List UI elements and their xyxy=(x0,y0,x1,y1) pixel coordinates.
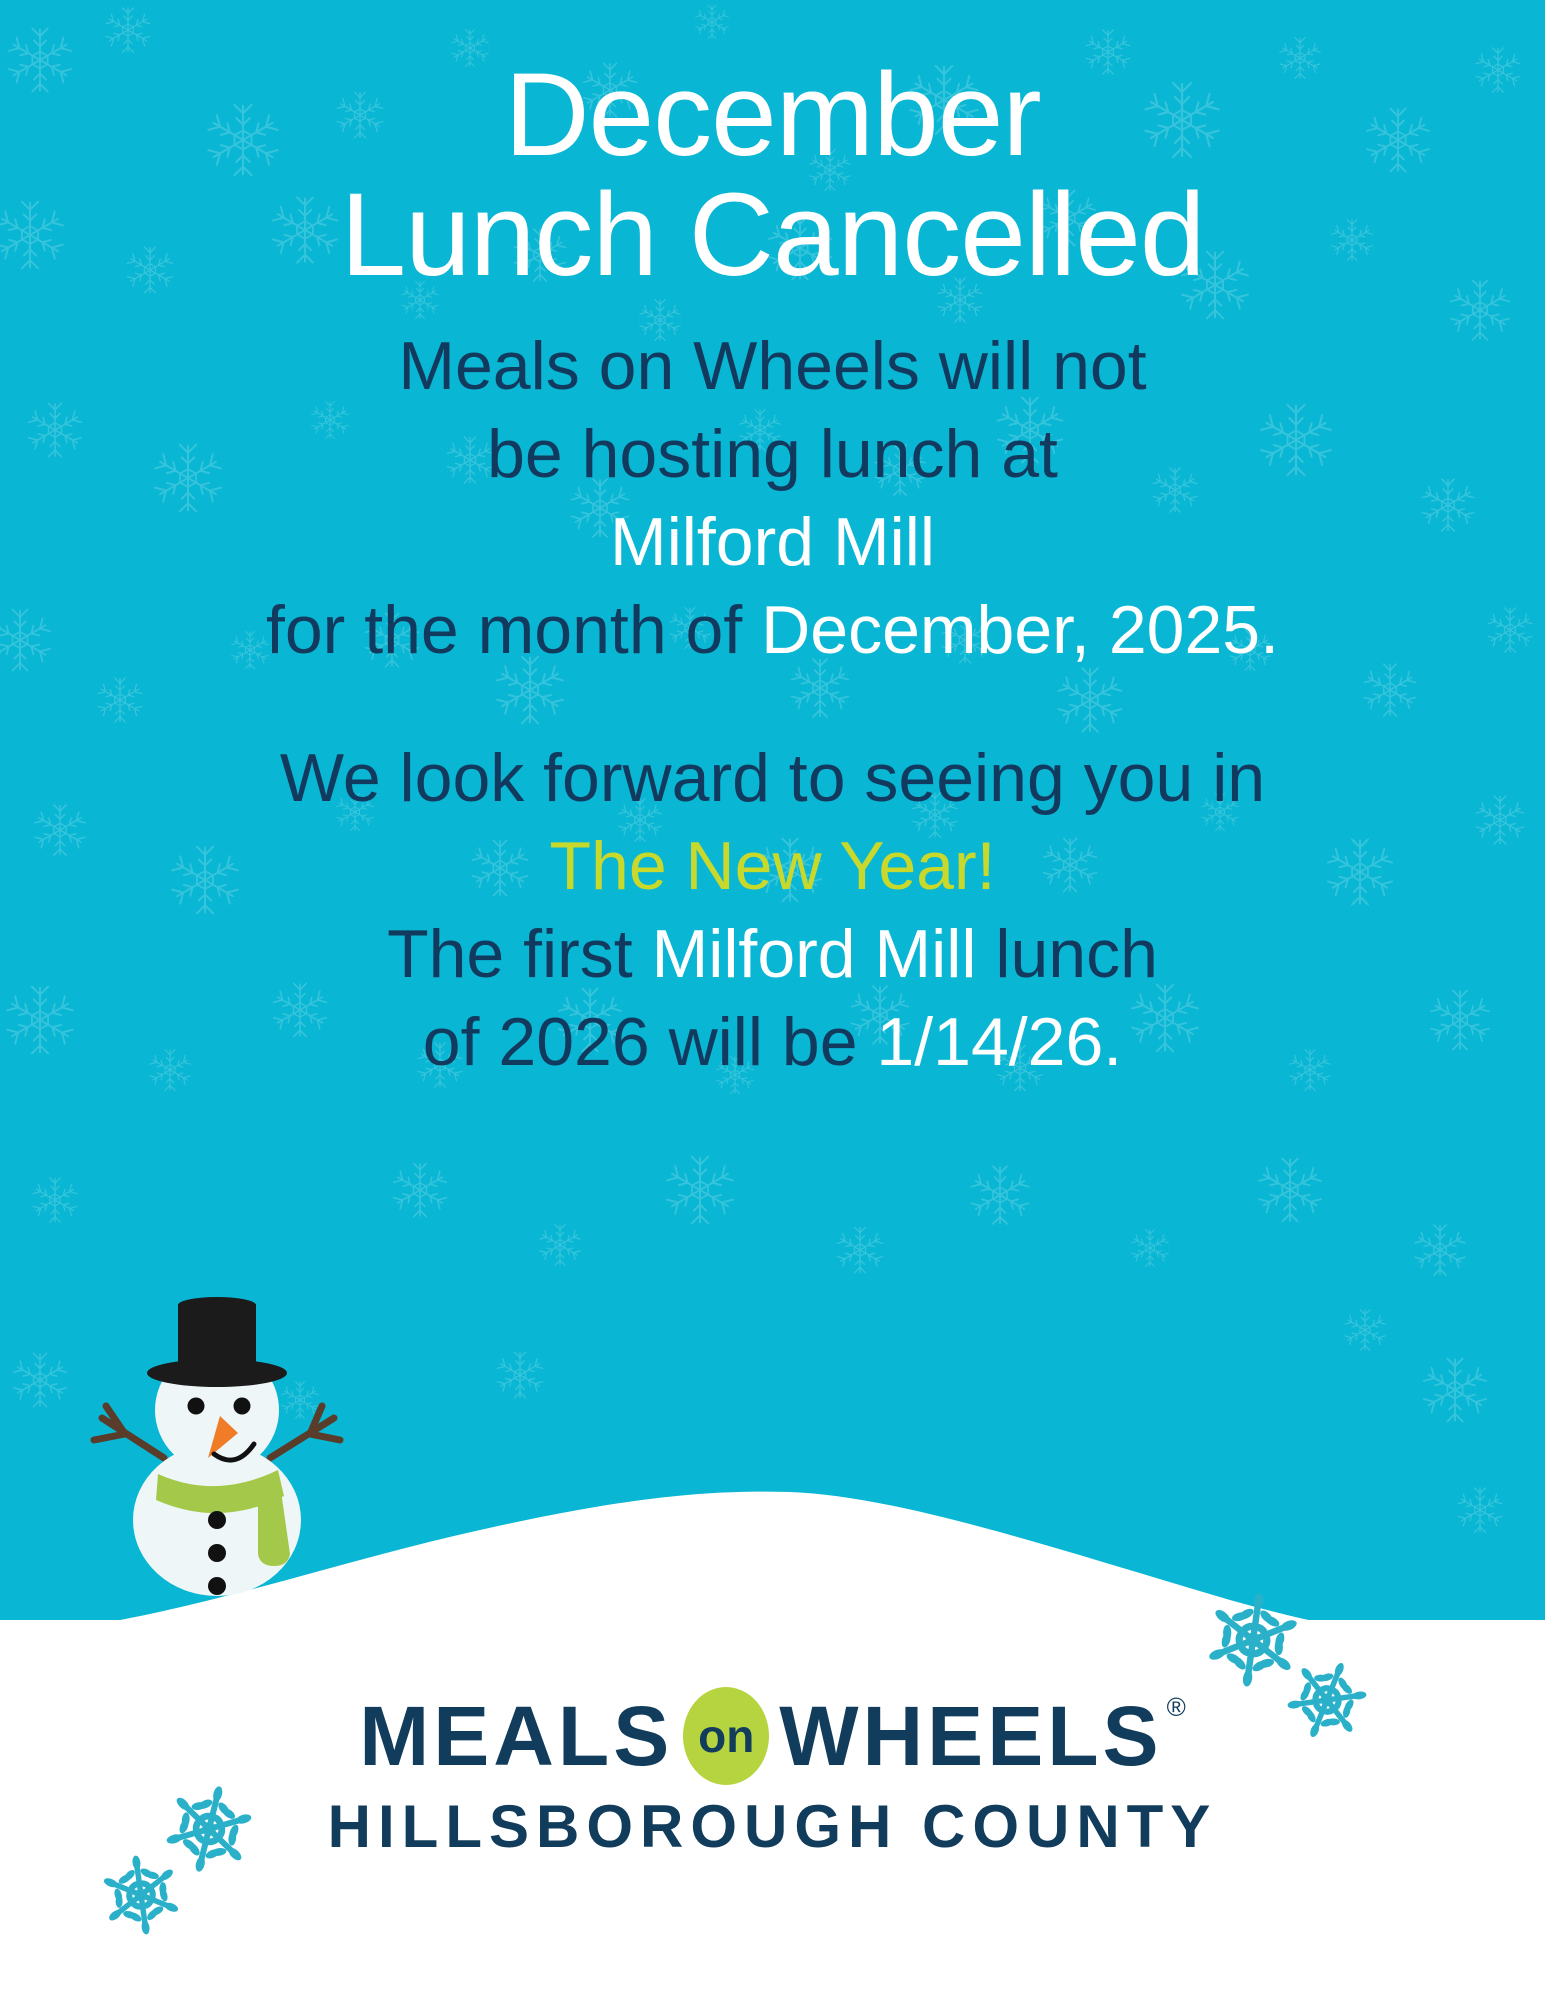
title-line-1: December xyxy=(0,56,1545,174)
body-line-7: The first Milford Mill lunch xyxy=(0,910,1545,998)
body-line-8: of 2026 will be 1/14/26. xyxy=(0,998,1545,1086)
body-line-4: for the month of December, 2025. xyxy=(0,586,1545,674)
body-line-6-new-year: The New Year! xyxy=(0,822,1545,910)
meals-on-wheels-logo: MEALS on WHEELS ® HILLSBOROUGH COUNTY xyxy=(0,1688,1545,1858)
snowman-button-2 xyxy=(208,1544,226,1562)
body-line-4-prefix: for the month of xyxy=(266,592,761,668)
body-line-4-date: December, 2025. xyxy=(761,592,1279,668)
body-line-2: be hosting lunch at xyxy=(0,410,1545,498)
body-line-1: Meals on Wheels will not xyxy=(0,322,1545,410)
flyer-text-block: December Lunch Cancelled Meals on Wheels… xyxy=(0,0,1545,1086)
snowman-button-1 xyxy=(208,1511,226,1529)
logo-on-badge: on xyxy=(683,1687,769,1785)
body-line-8-date: 1/14/26. xyxy=(876,1004,1122,1080)
body-line-5: We look forward to seeing you in xyxy=(0,734,1545,822)
registered-trademark-icon: ® xyxy=(1167,1694,1186,1720)
logo-wordmark-row: MEALS on WHEELS ® xyxy=(0,1688,1545,1784)
snowman-button-3 xyxy=(208,1577,226,1595)
body-line-7-suffix: lunch xyxy=(976,916,1157,992)
body-line-7-venue: Milford Mill xyxy=(652,916,977,992)
body-line-3-venue: Milford Mill xyxy=(0,498,1545,586)
snowman-eye-left xyxy=(188,1398,205,1415)
body-line-8-prefix: of 2026 will be xyxy=(423,1004,877,1080)
body-line-7-prefix: The first xyxy=(387,916,652,992)
logo-word-on: on xyxy=(698,1713,754,1759)
flyer-canvas: December Lunch Cancelled Meals on Wheels… xyxy=(0,0,1545,2000)
snowman-illustration xyxy=(62,1288,372,1598)
top-hat xyxy=(147,1297,287,1387)
logo-subtitle-hillsborough-county: HILLSBOROUGH COUNTY xyxy=(0,1796,1545,1858)
snowman-eye-right xyxy=(234,1398,251,1415)
logo-word-wheels: WHEELS xyxy=(779,1694,1162,1778)
text-spacer xyxy=(0,674,1545,734)
logo-word-meals: MEALS xyxy=(359,1694,673,1778)
title-line-2: Lunch Cancelled xyxy=(0,176,1545,294)
